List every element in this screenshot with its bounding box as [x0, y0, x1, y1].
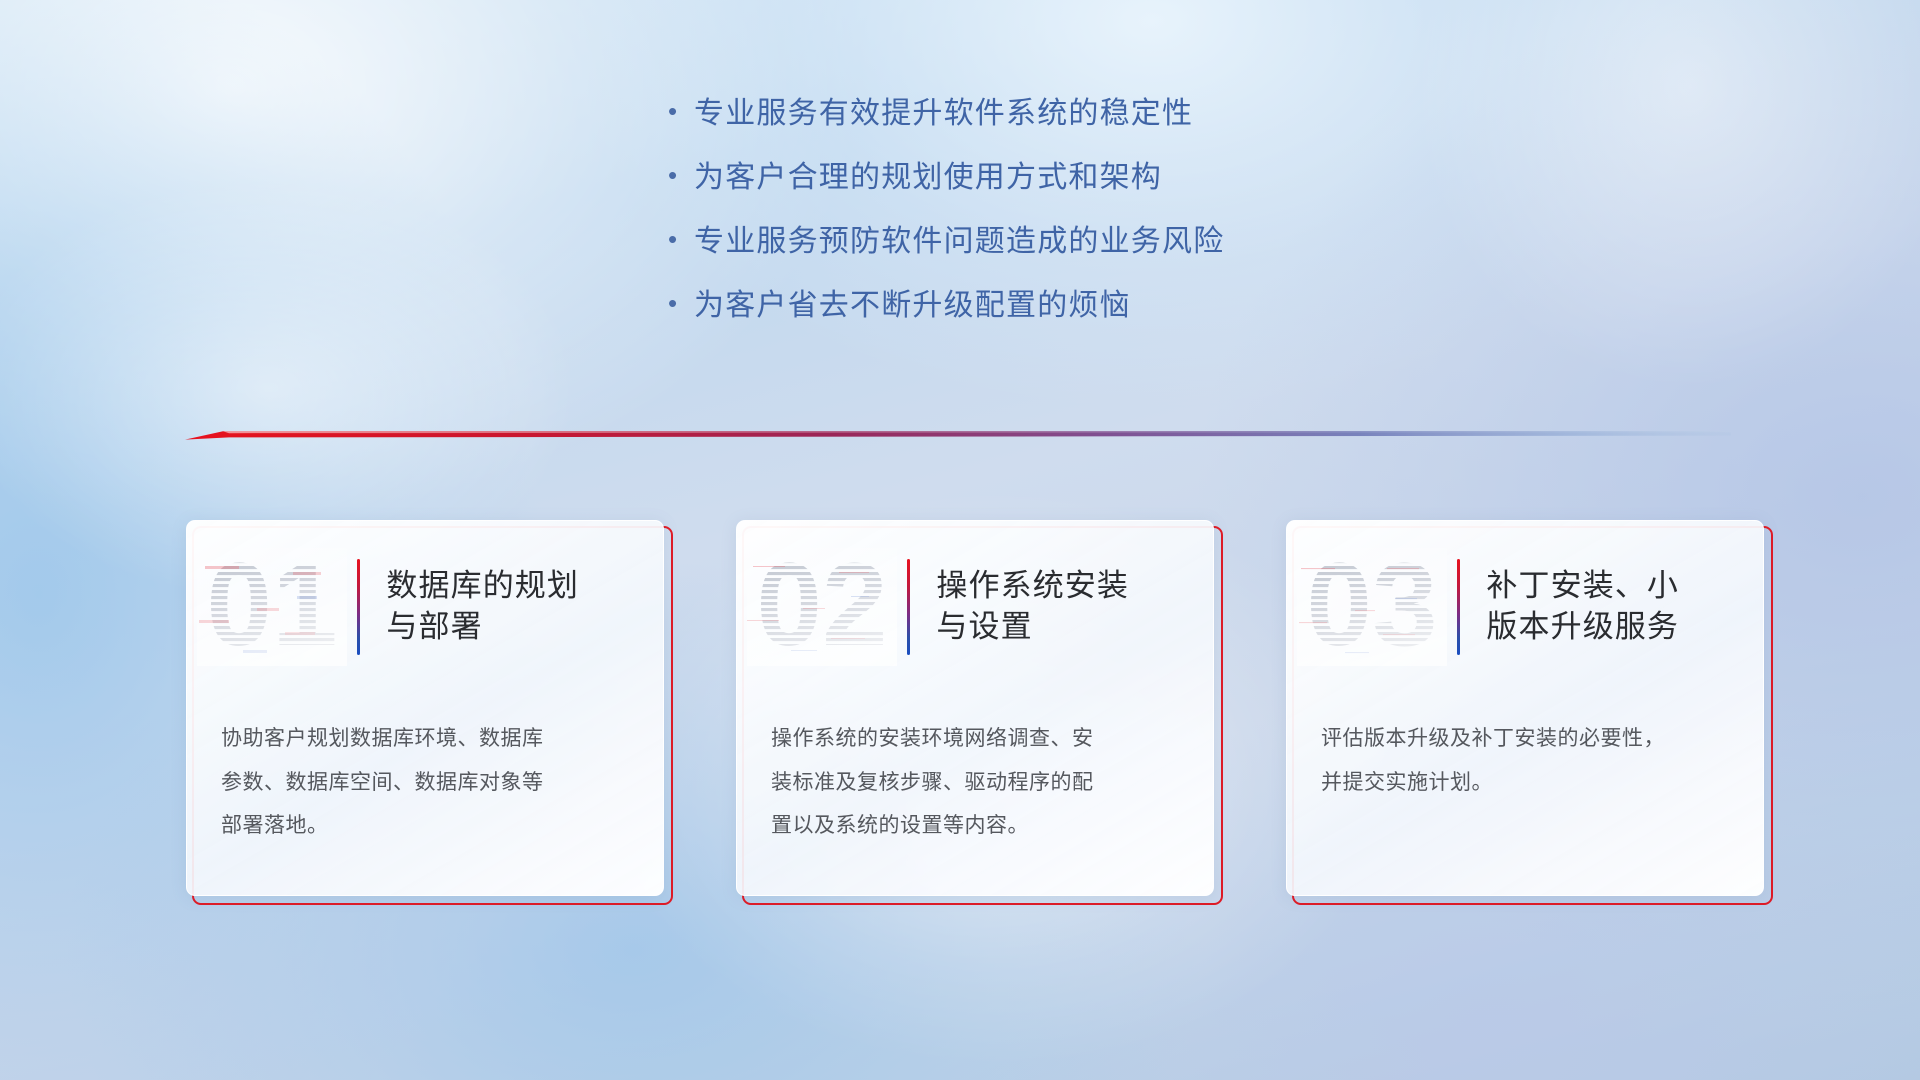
scanline-number-icon: 03 — [1297, 548, 1447, 666]
bullet-item-label: 专业服务有效提升软件系统的稳定性 — [694, 88, 1193, 132]
scanline-number-icon: 01 — [197, 548, 347, 666]
bullet-dot-icon: • — [668, 226, 694, 252]
card-number-0: 01 — [187, 548, 357, 666]
card-title: 操作系统安装 与设置 — [910, 566, 1214, 648]
service-card-row: 01 — [0, 520, 1920, 920]
card-title: 数据库的规划 与部署 — [360, 566, 664, 648]
bullet-item-label: 为客户省去不断升级配置的烦恼 — [694, 280, 1131, 324]
card-panel: 03 — [1286, 520, 1764, 896]
card-header: 01 — [187, 539, 664, 674]
benefits-bullet-list: • 专业服务有效提升软件系统的稳定性 • 为客户合理的规划使用方式和架构 • 专… — [668, 88, 1568, 344]
card-panel: 02 — [736, 520, 1214, 896]
bullet-item: • 为客户省去不断升级配置的烦恼 — [668, 280, 1568, 344]
service-card[interactable]: 02 — [736, 520, 1223, 905]
scanline-number-icon: 02 — [747, 548, 897, 666]
card-panel: 01 — [186, 520, 664, 896]
bullet-item: • 专业服务预防软件问题造成的业务风险 — [668, 216, 1568, 280]
slide-canvas: • 专业服务有效提升软件系统的稳定性 • 为客户合理的规划使用方式和架构 • 专… — [0, 0, 1920, 1080]
bullet-dot-icon: • — [668, 162, 694, 188]
card-title-line: 版本升级服务 — [1486, 607, 1755, 648]
card-description: 操作系统的安装环境网络调查、安 装标准及复核步骤、驱动程序的配 置以及系统的设置… — [771, 717, 1183, 848]
service-card[interactable]: 03 — [1286, 520, 1773, 905]
card-title: 补丁安装、小 版本升级服务 — [1460, 566, 1764, 648]
card-description-line: 部署落地。 — [221, 804, 633, 848]
section-divider — [185, 426, 1731, 444]
card-description: 协助客户规划数据库环境、数据库 参数、数据库空间、数据库对象等 部署落地。 — [221, 717, 633, 848]
card-description-line: 参数、数据库空间、数据库对象等 — [221, 761, 633, 805]
card-description: 评估版本升级及补丁安装的必要性， 并提交实施计划。 — [1321, 717, 1733, 804]
card-title-line: 操作系统安装 — [936, 566, 1205, 607]
bullet-item-label: 为客户合理的规划使用方式和架构 — [694, 152, 1162, 196]
card-title-line: 与部署 — [386, 607, 655, 648]
bullet-item: • 为客户合理的规划使用方式和架构 — [668, 152, 1568, 216]
card-header: 03 — [1287, 539, 1764, 674]
card-title-line: 数据库的规划 — [386, 566, 655, 607]
bullet-item-label: 专业服务预防软件问题造成的业务风险 — [694, 216, 1224, 260]
card-title-line: 与设置 — [936, 607, 1205, 648]
card-description-line: 并提交实施计划。 — [1321, 761, 1733, 805]
divider-wedge-icon — [185, 426, 1731, 444]
card-description-line: 操作系统的安装环境网络调查、安 — [771, 717, 1183, 761]
card-header: 02 — [737, 539, 1214, 674]
card-description-line: 评估版本升级及补丁安装的必要性， — [1321, 717, 1733, 761]
bullet-dot-icon: • — [668, 290, 694, 316]
service-card[interactable]: 01 — [186, 520, 673, 905]
card-title-line: 补丁安装、小 — [1486, 566, 1755, 607]
card-number-2: 03 — [1287, 548, 1457, 666]
card-description-line: 装标准及复核步骤、驱动程序的配 — [771, 761, 1183, 805]
card-description-line: 置以及系统的设置等内容。 — [771, 804, 1183, 848]
card-number-1: 02 — [737, 548, 907, 666]
bullet-dot-icon: • — [668, 98, 694, 124]
bullet-item: • 专业服务有效提升软件系统的稳定性 — [668, 88, 1568, 152]
card-description-line: 协助客户规划数据库环境、数据库 — [221, 717, 633, 761]
